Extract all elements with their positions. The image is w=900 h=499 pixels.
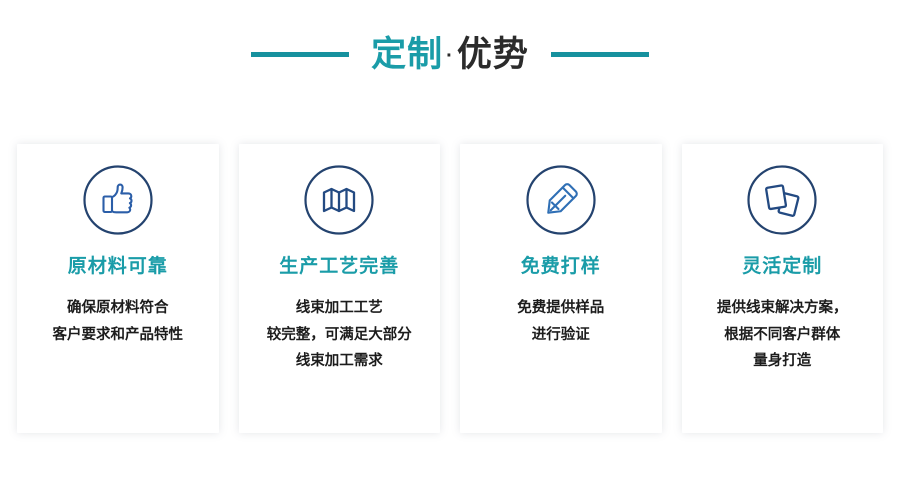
- feature-card[interactable]: 免费打样 免费提供样品 进行验证: [460, 144, 662, 433]
- section-title-accent: 定制: [371, 35, 443, 74]
- feature-card-title: 生产工艺完善: [279, 256, 399, 279]
- feature-card-body: 线束加工工艺 较完整，可满足大部分 线束加工需求: [257, 295, 422, 375]
- feature-card-title: 原材料可靠: [68, 256, 168, 279]
- section-title-separator: ·: [443, 45, 457, 67]
- folded-map-icon: [303, 164, 375, 236]
- feature-card-list: 原材料可靠 确保原材料符合 客户要求和产品特性 生产工艺完善 线束加工工艺 较完…: [17, 144, 883, 433]
- page-root: 定制·优势 原材料可靠 确保原材料符合 客户要求和产品特性: [0, 0, 900, 499]
- feature-card-body: 提供线束解决方案， 根据不同客户群体 量身打造: [707, 295, 858, 375]
- feature-card-body: 确保原材料符合 客户要求和产品特性: [43, 295, 194, 349]
- section-header: 定制·优势: [0, 26, 900, 82]
- pencil-icon: [525, 164, 597, 236]
- feature-card-title: 免费打样: [521, 256, 601, 279]
- feature-card-title: 灵活定制: [742, 256, 822, 279]
- header-rule-right: [551, 52, 649, 57]
- section-title-main: 优势: [457, 35, 529, 74]
- two-cards-icon: [746, 164, 818, 236]
- header-rule-left: [251, 52, 349, 57]
- feature-card[interactable]: 生产工艺完善 线束加工工艺 较完整，可满足大部分 线束加工需求: [239, 144, 441, 433]
- thumbs-up-icon: [82, 164, 154, 236]
- feature-card[interactable]: 灵活定制 提供线束解决方案， 根据不同客户群体 量身打造: [682, 144, 884, 433]
- feature-card-body: 免费提供样品 进行验证: [507, 295, 614, 349]
- feature-card[interactable]: 原材料可靠 确保原材料符合 客户要求和产品特性: [17, 144, 219, 433]
- section-title: 定制·优势: [371, 37, 529, 72]
